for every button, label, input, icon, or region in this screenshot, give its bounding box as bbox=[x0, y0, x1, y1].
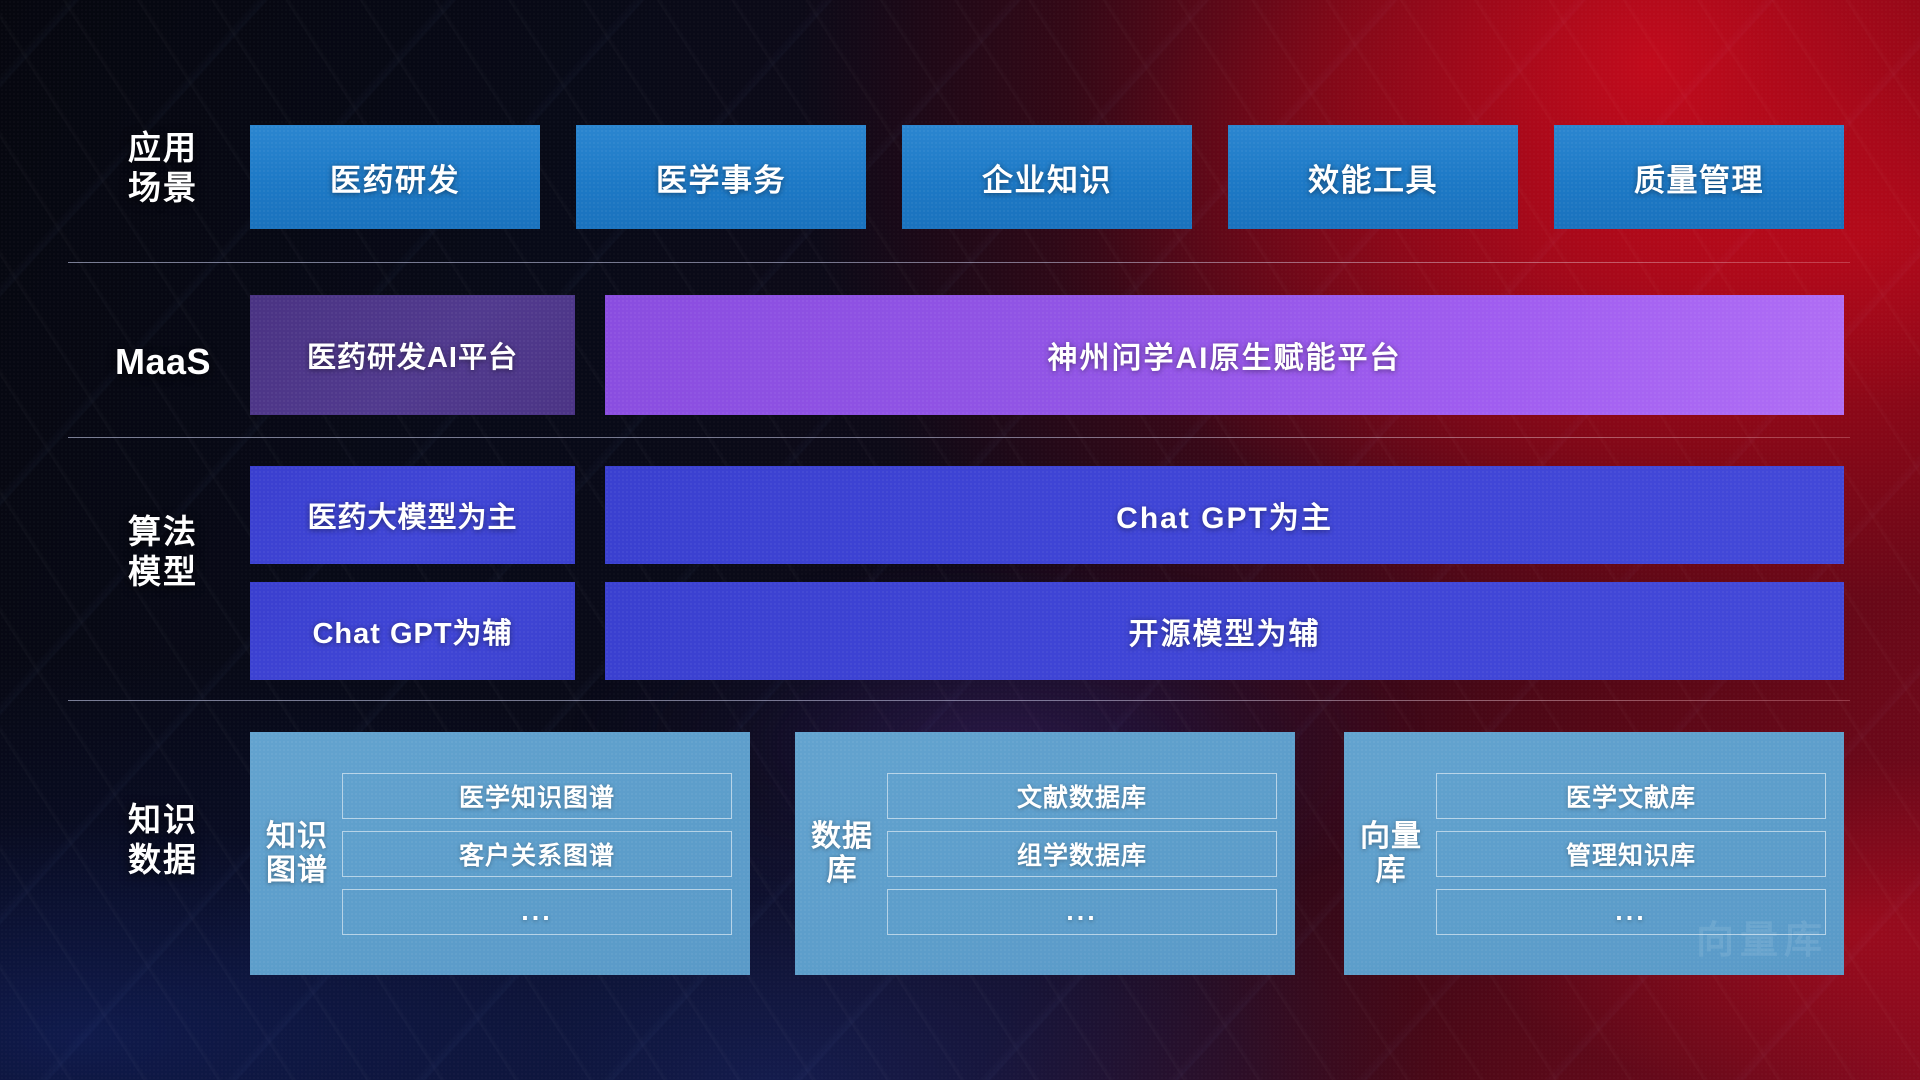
knowledge-panel-vector-title: 向量库 bbox=[1360, 820, 1422, 887]
app-card-3[interactable]: 企业知识 bbox=[902, 125, 1192, 229]
algo-card-top-left[interactable]: 医药大模型为主 bbox=[250, 466, 575, 564]
app-card-2-label: 医学事务 bbox=[656, 155, 786, 200]
knowledge-panel-vector[interactable]: 向量库 医学文献库 管理知识库 ... bbox=[1344, 732, 1844, 975]
algo-card-bottom-right[interactable]: 开源模型为辅 bbox=[605, 582, 1844, 680]
app-card-1-label: 医药研发 bbox=[330, 155, 460, 200]
algo-card-top-right-label: Chat GPT为主 bbox=[1116, 493, 1333, 537]
knowledge-item[interactable]: 文献数据库 bbox=[887, 773, 1277, 819]
knowledge-item[interactable]: 客户关系图谱 bbox=[342, 831, 732, 877]
app-card-3-label: 企业知识 bbox=[982, 155, 1112, 200]
knowledge-item[interactable]: 医学文献库 bbox=[1436, 773, 1826, 819]
algo-card-bottom-left-label: Chat GPT为辅 bbox=[312, 610, 512, 652]
row-label-application: 应用 场景 bbox=[68, 128, 258, 209]
algo-card-bottom-right-label: 开源模型为辅 bbox=[1129, 609, 1321, 653]
maas-platform-card-left-label: 医药研发AI平台 bbox=[307, 334, 518, 376]
architecture-grid: 应用 场景 医药研发 医学事务 企业知识 效能工具 质量管理 MaaS 医药研发… bbox=[0, 0, 1920, 1080]
app-card-4-label: 效能工具 bbox=[1308, 155, 1438, 200]
knowledge-panel-graph-items: 医学知识图谱 客户关系图谱 ... bbox=[342, 773, 732, 935]
divider-maas-algorithm bbox=[68, 437, 1850, 438]
app-card-5-label: 质量管理 bbox=[1634, 155, 1764, 200]
knowledge-item-more[interactable]: ... bbox=[887, 889, 1277, 935]
knowledge-panel-database-items: 文献数据库 组学数据库 ... bbox=[887, 773, 1277, 935]
diagram-canvas: 应用 场景 医药研发 医学事务 企业知识 效能工具 质量管理 MaaS 医药研发… bbox=[0, 0, 1920, 1080]
knowledge-panel-graph[interactable]: 知识图谱 医学知识图谱 客户关系图谱 ... bbox=[250, 732, 750, 975]
knowledge-panel-database-title: 数据库 bbox=[811, 820, 873, 887]
row-label-maas: MaaS bbox=[68, 340, 258, 384]
knowledge-item-more[interactable]: ... bbox=[342, 889, 732, 935]
divider-algorithm-knowledge bbox=[68, 700, 1850, 701]
algo-card-top-right[interactable]: Chat GPT为主 bbox=[605, 466, 1844, 564]
divider-application-maas bbox=[68, 262, 1850, 263]
maas-platform-card-right[interactable]: 神州问学AI原生赋能平台 bbox=[605, 295, 1844, 415]
row-label-algorithm: 算法 模型 bbox=[68, 512, 258, 593]
knowledge-panel-database[interactable]: 数据库 文献数据库 组学数据库 ... bbox=[795, 732, 1295, 975]
knowledge-panel-vector-items: 医学文献库 管理知识库 ... bbox=[1436, 773, 1826, 935]
knowledge-item[interactable]: 组学数据库 bbox=[887, 831, 1277, 877]
app-card-2[interactable]: 医学事务 bbox=[576, 125, 866, 229]
knowledge-panel-graph-title: 知识图谱 bbox=[266, 820, 328, 887]
algo-card-bottom-left[interactable]: Chat GPT为辅 bbox=[250, 582, 575, 680]
row-label-knowledge: 知识 数据 bbox=[68, 800, 258, 881]
app-card-4[interactable]: 效能工具 bbox=[1228, 125, 1518, 229]
knowledge-item[interactable]: 管理知识库 bbox=[1436, 831, 1826, 877]
maas-platform-card-left[interactable]: 医药研发AI平台 bbox=[250, 295, 575, 415]
algo-card-top-left-label: 医药大模型为主 bbox=[307, 494, 517, 536]
app-card-1[interactable]: 医药研发 bbox=[250, 125, 540, 229]
knowledge-item[interactable]: 医学知识图谱 bbox=[342, 773, 732, 819]
app-card-5[interactable]: 质量管理 bbox=[1554, 125, 1844, 229]
maas-platform-card-right-label: 神州问学AI原生赋能平台 bbox=[1048, 333, 1402, 377]
knowledge-item-more[interactable]: ... bbox=[1436, 889, 1826, 935]
